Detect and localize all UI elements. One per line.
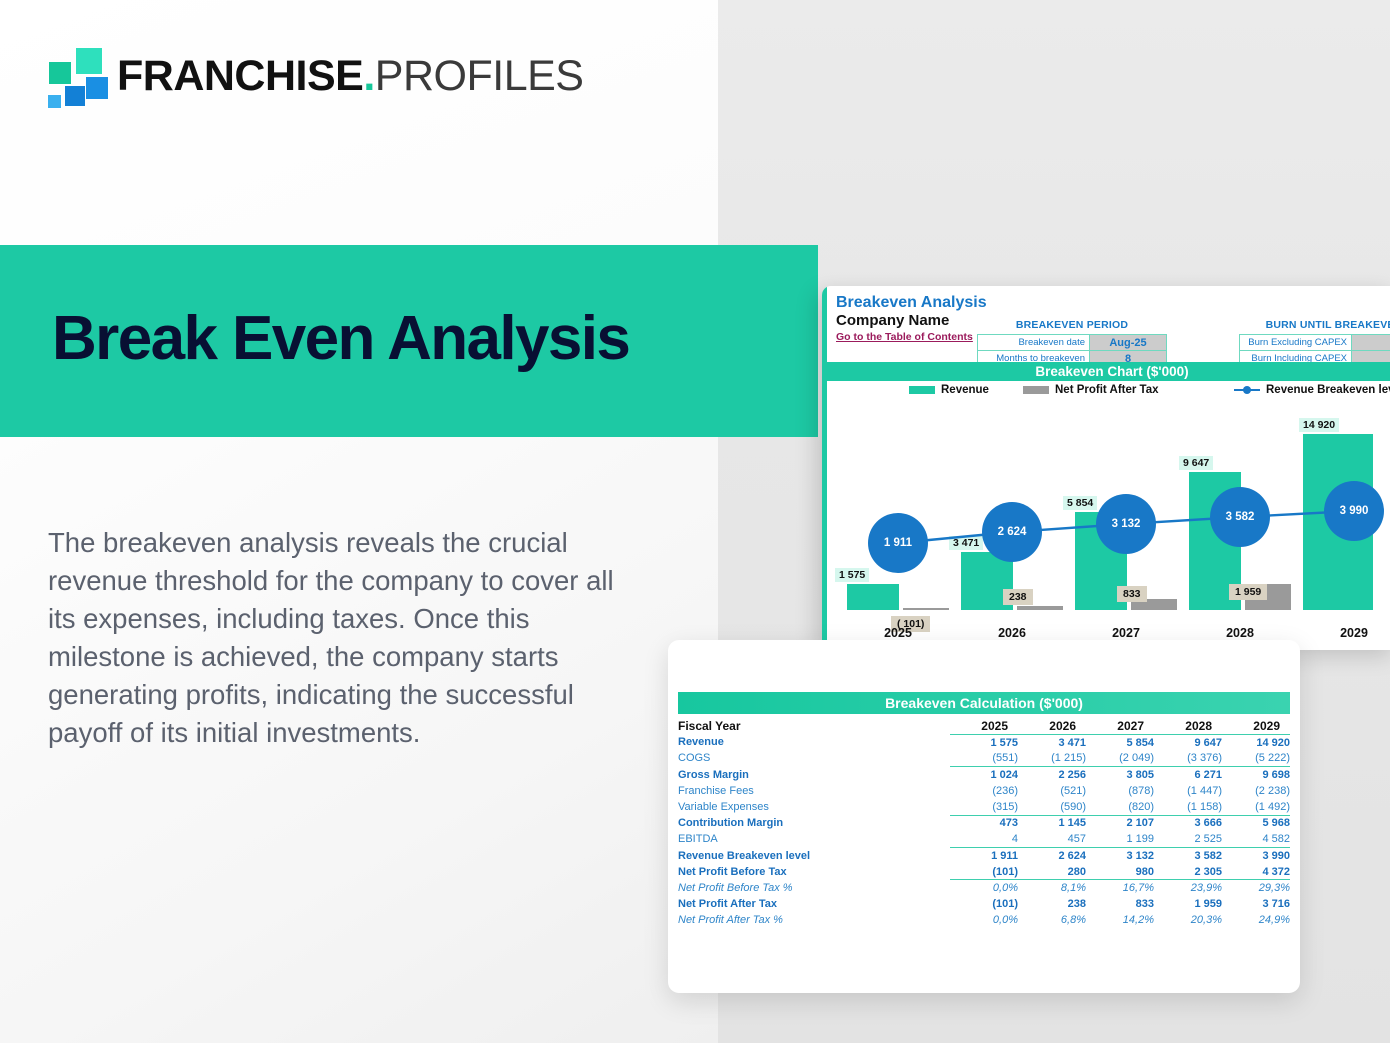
row-value: (101) (950, 864, 1018, 880)
breakeven-date-label: Breakeven date (978, 335, 1090, 351)
row-value: (1 158) (1154, 799, 1222, 815)
row-value: 23,9% (1154, 880, 1222, 896)
row-value: 2 305 (1154, 864, 1222, 880)
row-label: Net Profit Before Tax % (678, 880, 950, 896)
breakeven-node-2026: 2 624 (982, 502, 1042, 562)
table-row: Net Profit After Tax(101)2388331 9593 71… (678, 896, 1290, 912)
row-value: 3 132 (1086, 848, 1154, 864)
row-value: 5 968 (1222, 815, 1290, 831)
row-value: (820) (1086, 799, 1154, 815)
row-value: (1 447) (1154, 783, 1222, 799)
table-row: Variable Expenses(315)(590)(820)(1 158)(… (678, 799, 1290, 815)
row-label: Net Profit After Tax (678, 896, 950, 912)
row-value: 4 372 (1222, 864, 1290, 880)
table-row: Revenue1 5753 4715 8549 64714 920 (678, 734, 1290, 750)
row-value: 14 920 (1222, 734, 1290, 750)
table-row: Franchise Fees(236)(521)(878)(1 447)(2 2… (678, 783, 1290, 799)
row-value: 3 582 (1154, 848, 1222, 864)
row-value: (101) (950, 896, 1018, 912)
row-label: Variable Expenses (678, 799, 950, 815)
row-value: 0,0% (950, 880, 1018, 896)
row-value: (590) (1018, 799, 1086, 815)
legend-item-revenue-breakeven-level: Revenue Breakeven level (1234, 384, 1390, 396)
brand-name-light: PROFILES (375, 52, 584, 101)
row-value: 280 (1018, 864, 1086, 880)
net-profit-swatch-icon (1023, 386, 1049, 394)
table-of-contents-link[interactable]: Go to the Table of Contents (836, 331, 973, 343)
row-value: 16,7% (1086, 880, 1154, 896)
intro-paragraph: The breakeven analysis reveals the cruci… (48, 524, 620, 752)
row-value: (521) (1018, 783, 1086, 799)
chart-card-title: Breakeven Analysis (836, 294, 987, 312)
row-value: 2 624 (1018, 848, 1086, 864)
row-value: 20,3% (1154, 912, 1222, 928)
chart-plot-area: 1 575 ( 101) 1 911 2025 3 471 238 2 624 … (827, 406, 1390, 650)
legend-label: Revenue Breakeven level (1266, 384, 1390, 396)
row-value: 2 107 (1086, 815, 1154, 831)
row-label: COGS (678, 750, 950, 766)
burn-excluding-capex-value (1352, 335, 1390, 351)
row-value: 1 959 (1154, 896, 1222, 912)
row-label: Revenue Breakeven level (678, 848, 950, 864)
breakeven-node-2029: 3 990 (1324, 481, 1384, 541)
row-value: (1 492) (1222, 799, 1290, 815)
row-value: 3 990 (1222, 848, 1290, 864)
row-value: 1 145 (1018, 815, 1086, 831)
row-value: 24,9% (1222, 912, 1290, 928)
row-label: Contribution Margin (678, 815, 950, 831)
table-row: Revenue Breakeven level1 9112 6243 1323 … (678, 848, 1290, 864)
year-header-2028: 2028 (1154, 718, 1222, 734)
row-value: 9 698 (1222, 767, 1290, 783)
row-value: 980 (1086, 864, 1154, 880)
row-value: 457 (1018, 831, 1086, 847)
page-title: Break Even Analysis (52, 303, 629, 374)
row-label: Revenue (678, 734, 950, 750)
table-row: Net Profit Before Tax(101)2809802 3054 3… (678, 864, 1290, 880)
row-value: (551) (950, 750, 1018, 766)
row-value: 6,8% (1018, 912, 1086, 928)
fiscal-year-header: Fiscal Year (678, 718, 950, 734)
breakeven-calculation-card: Breakeven Calculation ($'000) Fiscal Yea… (668, 640, 1300, 993)
row-value: 3 805 (1086, 767, 1154, 783)
year-header-2025: 2025 (950, 718, 1018, 734)
row-value: (878) (1086, 783, 1154, 799)
calculation-banner: Breakeven Calculation ($'000) (678, 692, 1290, 714)
brand-name-dot: . (363, 52, 374, 101)
row-value: 1 575 (950, 734, 1018, 750)
row-value: 1 911 (950, 848, 1018, 864)
table-row: EBITDA44571 1992 5254 582 (678, 831, 1290, 847)
burn-until-breakeven-heading: BURN UNTIL BREAKEVEN (1239, 319, 1390, 331)
row-label: Net Profit Before Tax (678, 864, 950, 880)
breakeven-period-block: BREAKEVEN PERIOD Breakeven date Aug-25 M… (977, 319, 1167, 367)
row-value: (2 238) (1222, 783, 1290, 799)
row-value: 1 024 (950, 767, 1018, 783)
table-row: Gross Margin1 0242 2563 8056 2719 698 (678, 767, 1290, 783)
burn-excluding-capex-label: Burn Excluding CAPEX (1240, 335, 1352, 351)
row-label: EBITDA (678, 831, 950, 847)
brand-name-bold: FRANCHISE (117, 52, 363, 101)
row-value: 0,0% (950, 912, 1018, 928)
row-value: 9 647 (1154, 734, 1222, 750)
legend-item-revenue: Revenue (909, 384, 989, 396)
burn-until-breakeven-block: BURN UNTIL BREAKEVEN Burn Excluding CAPE… (1239, 319, 1390, 367)
table-row: Burn Excluding CAPEX (1240, 335, 1390, 351)
row-value: (236) (950, 783, 1018, 799)
row-label: Gross Margin (678, 767, 950, 783)
row-label: Net Profit After Tax % (678, 912, 950, 928)
chart-legend: Revenue Net Profit After Tax Revenue Bre… (827, 384, 1390, 402)
breakeven-date-value: Aug-25 (1090, 335, 1167, 351)
row-value: (1 215) (1018, 750, 1086, 766)
brand-logo: FRANCHISE.PROFILES (47, 45, 547, 107)
table-row: Net Profit After Tax %0,0%6,8%14,2%20,3%… (678, 912, 1290, 928)
row-value: 833 (1086, 896, 1154, 912)
row-value: 3 666 (1154, 815, 1222, 831)
breakeven-node-2025: 1 911 (868, 513, 928, 573)
brand-wordmark: FRANCHISE.PROFILES (117, 45, 583, 107)
row-value: 3 471 (1018, 734, 1086, 750)
row-value: 6 271 (1154, 767, 1222, 783)
table-row: COGS(551)(1 215)(2 049)(3 376)(5 222) (678, 750, 1290, 766)
logo-squares-icon (47, 47, 111, 102)
row-value: 4 582 (1222, 831, 1290, 847)
table-header-row: Fiscal Year 2025 2026 2027 2028 2029 (678, 718, 1290, 734)
row-value: 2 256 (1018, 767, 1086, 783)
legend-label: Revenue (941, 384, 989, 396)
year-header-2029: 2029 (1222, 718, 1290, 734)
row-value: 4 (950, 831, 1018, 847)
row-value: (2 049) (1086, 750, 1154, 766)
row-value: 3 716 (1222, 896, 1290, 912)
breakeven-period-heading: BREAKEVEN PERIOD (977, 319, 1167, 331)
row-value: 14,2% (1086, 912, 1154, 928)
table-row: Net Profit Before Tax %0,0%8,1%16,7%23,9… (678, 880, 1290, 896)
row-value: 238 (1018, 896, 1086, 912)
chart-card-company: Company Name (836, 312, 949, 329)
breakeven-node-2027: 3 132 (1096, 494, 1156, 554)
table-row: Contribution Margin4731 1452 1073 6665 9… (678, 815, 1290, 831)
breakeven-calculation-table: Fiscal Year 2025 2026 2027 2028 2029 Rev… (678, 718, 1290, 928)
row-value: (315) (950, 799, 1018, 815)
row-value: (5 222) (1222, 750, 1290, 766)
row-value: 5 854 (1086, 734, 1154, 750)
row-value: (3 376) (1154, 750, 1222, 766)
legend-item-net-profit-after-tax: Net Profit After Tax (1023, 384, 1159, 396)
breakeven-chart-card: Breakeven Analysis Company Name Go to th… (822, 286, 1390, 650)
row-value: 29,3% (1222, 880, 1290, 896)
row-value: 473 (950, 815, 1018, 831)
legend-label: Net Profit After Tax (1055, 384, 1159, 396)
row-value: 8,1% (1018, 880, 1086, 896)
breakeven-node-2028: 3 582 (1210, 487, 1270, 547)
breakeven-line-marker-icon (1234, 386, 1260, 394)
row-label: Franchise Fees (678, 783, 950, 799)
year-header-2027: 2027 (1086, 718, 1154, 734)
row-value: 1 199 (1086, 831, 1154, 847)
table-row: Breakeven date Aug-25 (978, 335, 1167, 351)
revenue-swatch-icon (909, 386, 935, 394)
chart-title: Breakeven Chart ($'000) (827, 362, 1390, 381)
year-header-2026: 2026 (1018, 718, 1086, 734)
row-value: 2 525 (1154, 831, 1222, 847)
